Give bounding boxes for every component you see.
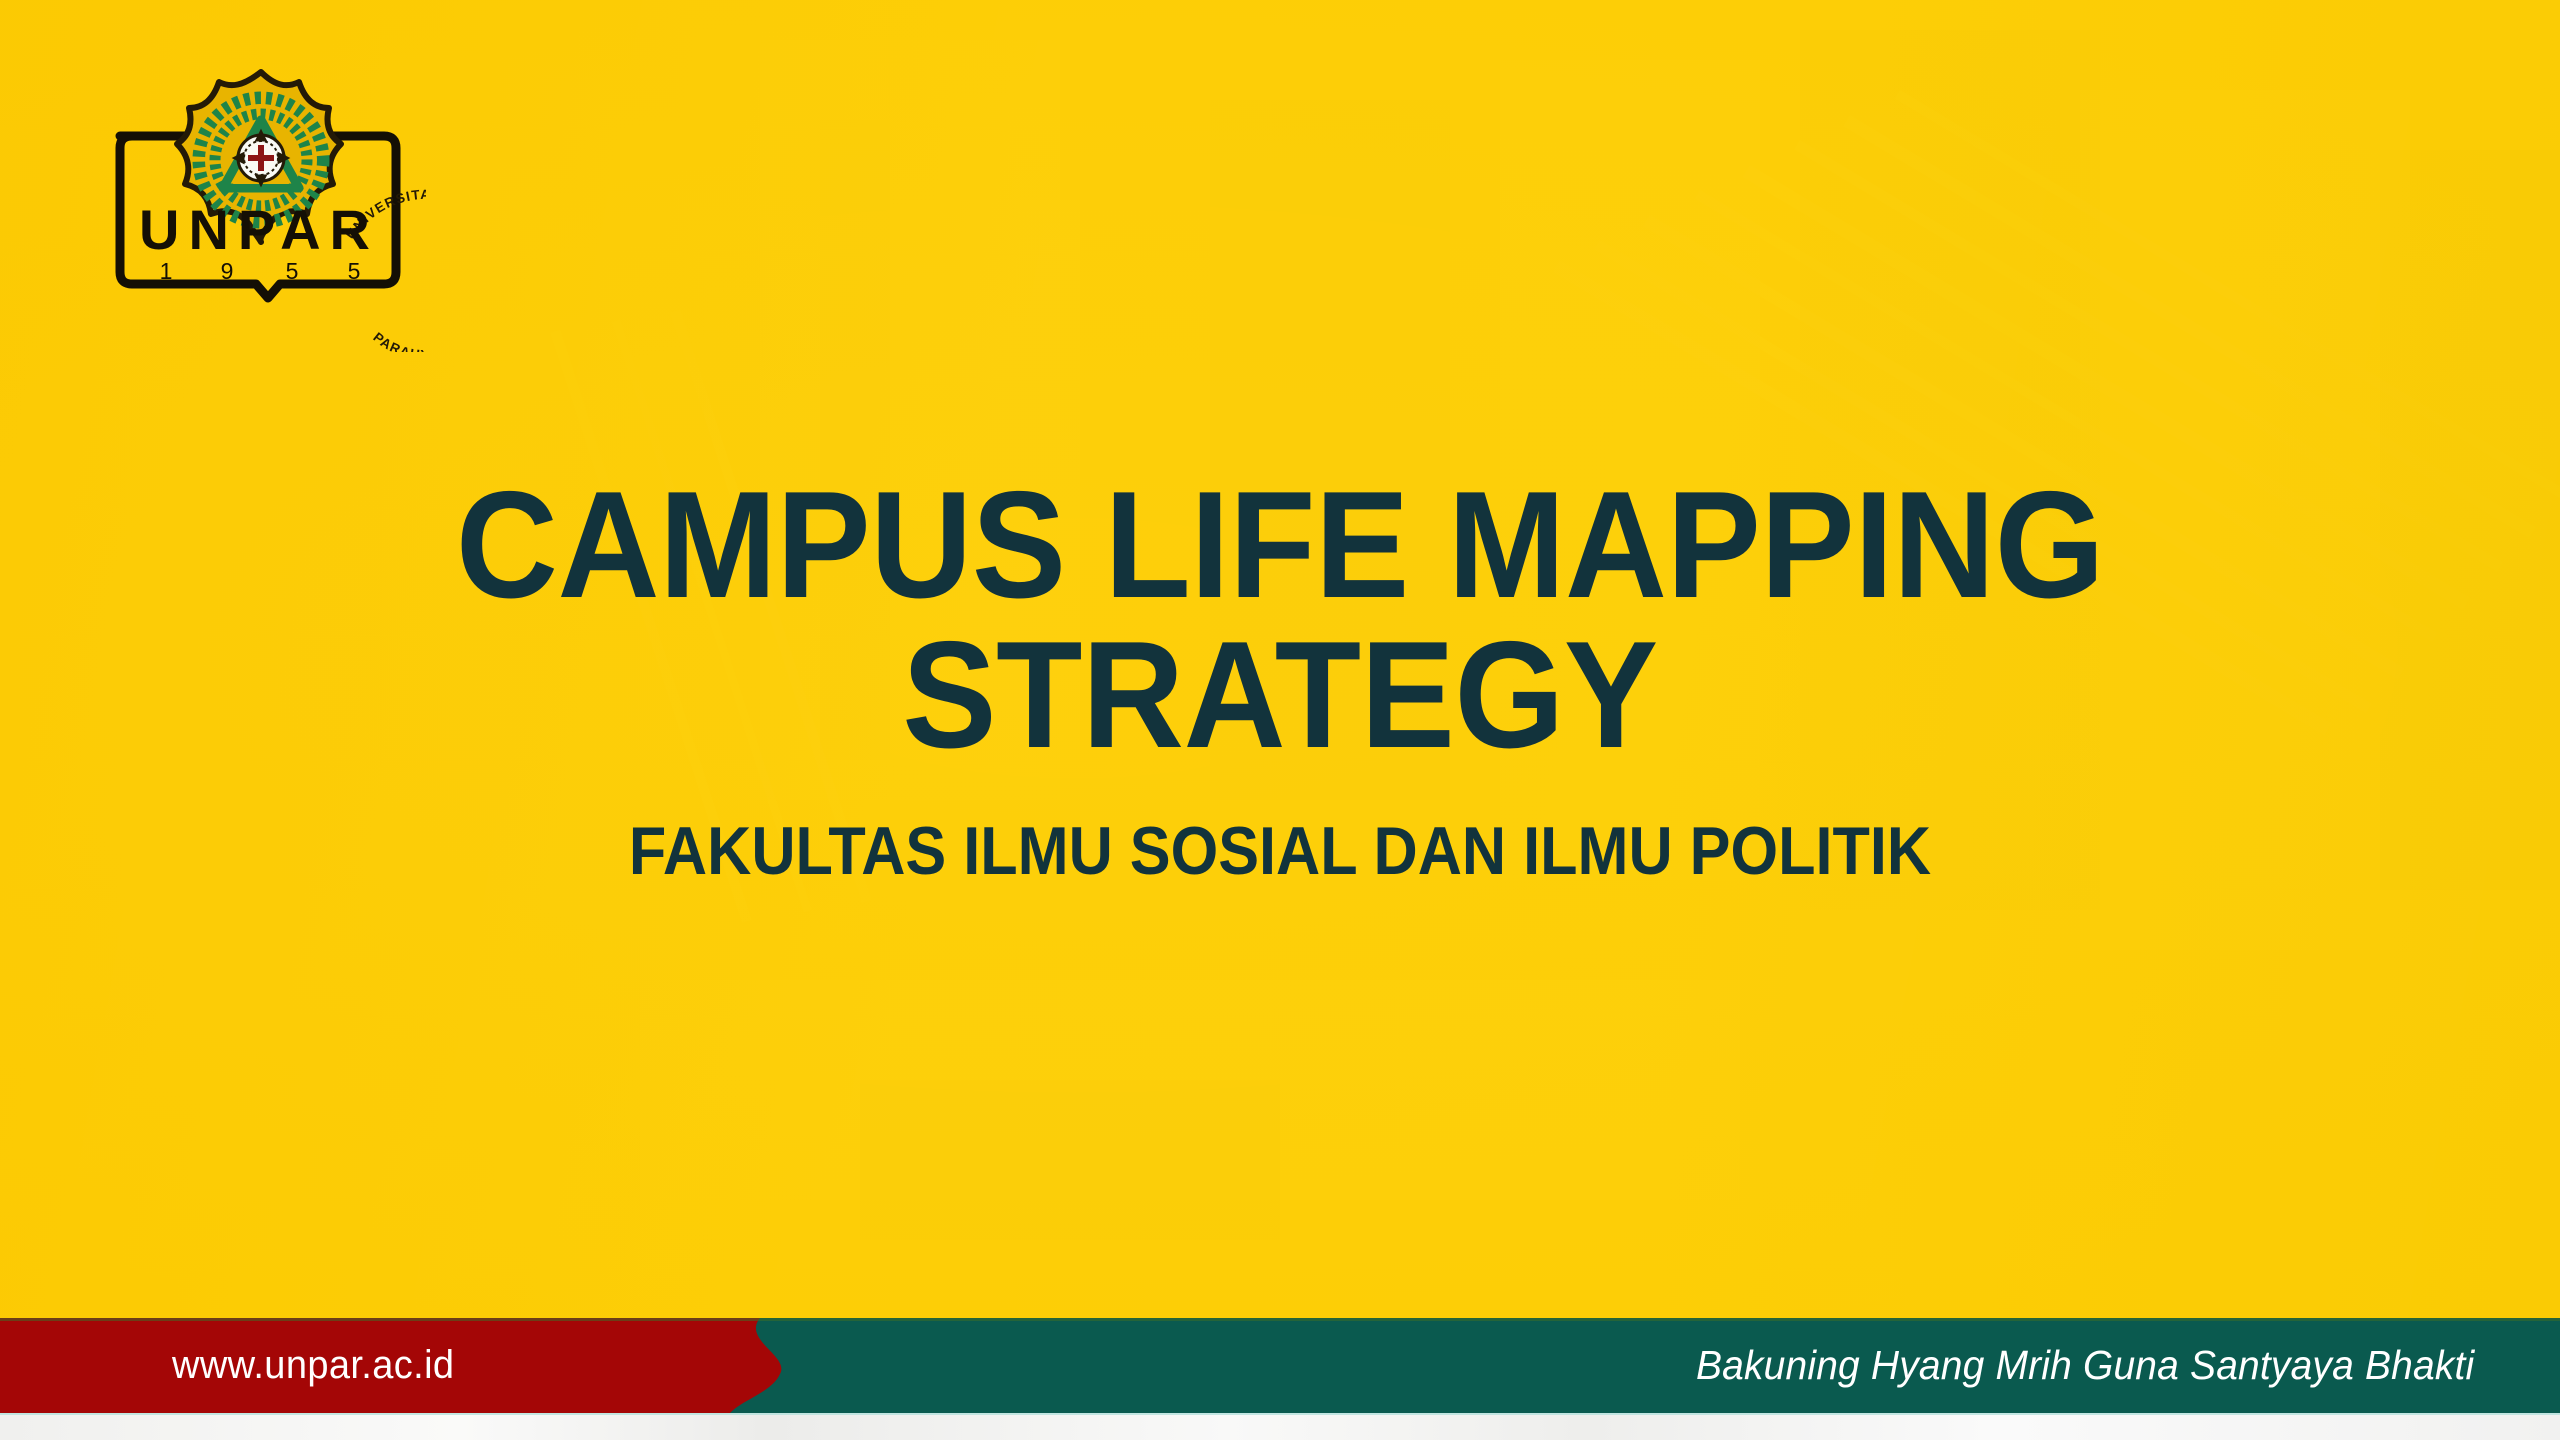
page-subtitle: FAKULTAS ILMU SOSIAL DAN ILMU POLITIK (128, 771, 2432, 885)
unpar-logo: UNIVERSITAS KATOLIK PARAHYANGAN UNPAR 1 … (96, 52, 426, 352)
footer-bar: www.unpar.ac.id Bakuning Hyang Mrih Guna… (0, 1318, 2560, 1413)
background-facade-slat (1895, 90, 2560, 500)
bottom-strip-sheen (0, 1413, 2560, 1440)
page-title: CAMPUS LIFE MAPPING STRATEGY (90, 470, 2471, 771)
title-block: CAMPUS LIFE MAPPING STRATEGY FAKULTAS IL… (0, 470, 2560, 885)
motto-tagline: Bakuning Hyang Mrih Guna Santyaya Bhakti (1696, 1318, 2474, 1413)
presentation-slide: UNIVERSITAS KATOLIK PARAHYANGAN UNPAR 1 … (0, 0, 2560, 1440)
bottom-white-strip (0, 1413, 2560, 1440)
background-building-block (640, 980, 1740, 1200)
logo-year-digit-2: 9 (221, 258, 234, 284)
website-url[interactable]: www.unpar.ac.id (172, 1318, 454, 1413)
logo-seal-bottom-text: PARAHYANGAN (370, 329, 426, 352)
logo-year-digit-4: 5 (348, 258, 361, 284)
logo-year-digit-3: 5 (286, 258, 299, 284)
logo-wordmark: UNPAR (139, 198, 379, 261)
background-building-block (860, 1080, 1280, 1240)
logo-year-digit-1: 1 (160, 258, 173, 284)
bottom-strip-hairline (0, 1413, 2560, 1415)
